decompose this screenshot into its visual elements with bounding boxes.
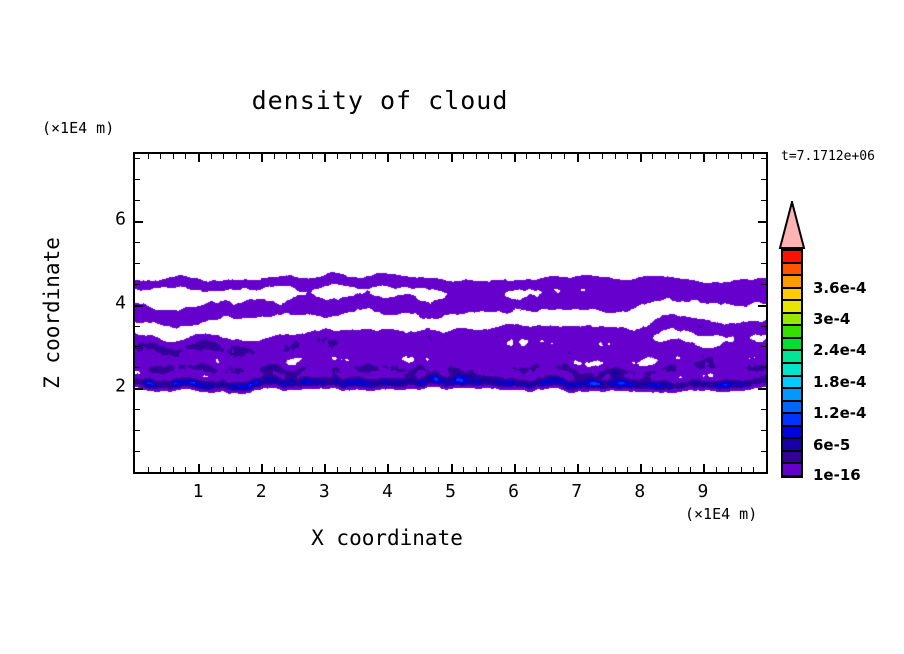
colorbar-band — [783, 438, 801, 451]
x-tick-label: 8 — [634, 481, 645, 502]
x-tick-minor — [337, 467, 338, 472]
x-tick-minor — [678, 154, 679, 159]
x-tick-major — [640, 464, 642, 472]
colorbar: 3.6e-43e-42.4e-41.8e-41.2e-46e-51e-16 — [777, 201, 903, 481]
y-tick-major — [758, 388, 766, 390]
x-tick-major — [324, 464, 326, 472]
timestamp-annotation: t=7.1712e+06 — [781, 149, 875, 164]
x-tick-minor — [249, 154, 250, 159]
colorbar-band — [783, 376, 801, 389]
colorbar-band-stack — [781, 248, 803, 478]
y-tick-minor — [135, 179, 140, 180]
y-tick-minor — [761, 284, 766, 285]
x-tick-minor — [425, 467, 426, 472]
x-tick-minor — [753, 467, 754, 472]
y-tick-label: 2 — [102, 376, 126, 397]
x-tick-major — [577, 464, 579, 472]
plot-area — [133, 152, 768, 474]
x-tick-minor — [526, 467, 527, 472]
x-tick-minor — [400, 467, 401, 472]
colorbar-band — [783, 313, 801, 326]
x-tick-major — [451, 464, 453, 472]
colorbar-band — [783, 463, 801, 476]
x-tick-major — [703, 464, 705, 472]
x-tick-minor — [185, 154, 186, 159]
x-tick-minor — [249, 467, 250, 472]
x-tick-minor — [463, 467, 464, 472]
x-tick-minor — [362, 467, 363, 472]
x-tick-minor — [274, 154, 275, 159]
x-tick-minor — [438, 467, 439, 472]
y-tick-minor — [135, 430, 140, 431]
y-tick-minor — [135, 242, 140, 243]
y-tick-minor — [761, 179, 766, 180]
x-tick-minor — [627, 467, 628, 472]
y-tick-label: 4 — [102, 292, 126, 313]
colorbar-band — [783, 325, 801, 338]
x-tick-minor — [615, 467, 616, 472]
colorbar-band — [783, 388, 801, 401]
x-tick-minor — [589, 154, 590, 159]
x-tick-label: 4 — [382, 481, 393, 502]
y-tick-minor — [761, 242, 766, 243]
x-tick-minor — [716, 467, 717, 472]
y-tick-minor — [761, 263, 766, 264]
x-tick-minor — [753, 154, 754, 159]
y-tick-minor — [761, 430, 766, 431]
x-tick-minor — [400, 154, 401, 159]
x-tick-minor — [211, 467, 212, 472]
x-tick-label: 6 — [508, 481, 519, 502]
y-tick-major — [758, 305, 766, 307]
page-title: density of cloud — [0, 86, 760, 115]
x-tick-major — [261, 154, 263, 162]
x-tick-minor — [236, 154, 237, 159]
colorbar-band — [783, 300, 801, 313]
x-tick-minor — [602, 154, 603, 159]
x-tick-minor — [728, 467, 729, 472]
colorbar-tick-label: 1.2e-4 — [813, 404, 866, 422]
x-tick-major — [514, 154, 516, 162]
y-tick-label-layer: 246 — [96, 152, 126, 474]
y-tick-major — [135, 388, 143, 390]
x-tick-minor — [223, 467, 224, 472]
x-tick-major — [451, 154, 453, 162]
x-tick-label: 9 — [697, 481, 708, 502]
x-tick-minor — [299, 467, 300, 472]
x-tick-minor — [627, 154, 628, 159]
x-axis-title-text: X coordinate — [311, 526, 593, 550]
x-tick-minor — [299, 154, 300, 159]
x-tick-minor — [728, 154, 729, 159]
colorbar-band — [783, 363, 801, 376]
y-axis-title: Z coordinate — [40, 237, 64, 389]
y-tick-minor — [761, 409, 766, 410]
x-tick-minor — [551, 467, 552, 472]
x-tick-major — [198, 154, 200, 162]
y-tick-minor — [135, 200, 140, 201]
x-tick-major — [387, 464, 389, 472]
x-tick-minor — [337, 154, 338, 159]
y-tick-minor — [135, 346, 140, 347]
colorbar-band — [783, 350, 801, 363]
y-tick-label: 6 — [102, 208, 126, 229]
x-tick-minor — [652, 467, 653, 472]
colorbar-tick-label: 3.6e-4 — [813, 279, 866, 297]
colorbar-band — [783, 288, 801, 301]
x-tick-minor — [173, 467, 174, 472]
y-tick-minor — [135, 284, 140, 285]
colorbar-tick-label: 1e-16 — [813, 466, 861, 484]
x-tick-major — [261, 464, 263, 472]
x-tick-minor — [501, 154, 502, 159]
x-tick-minor — [501, 467, 502, 472]
x-tick-minor — [160, 467, 161, 472]
y-tick-minor — [761, 367, 766, 368]
x-tick-minor — [476, 467, 477, 472]
x-tick-minor — [564, 154, 565, 159]
x-tick-minor — [652, 154, 653, 159]
x-tick-minor — [362, 154, 363, 159]
x-tick-minor — [564, 467, 565, 472]
x-tick-minor — [589, 467, 590, 472]
x-tick-minor — [413, 154, 414, 159]
x-tick-minor — [602, 467, 603, 472]
x-tick-minor — [716, 154, 717, 159]
x-tick-label: 7 — [571, 481, 582, 502]
x-tick-minor — [173, 154, 174, 159]
colorbar-band — [783, 451, 801, 464]
y-tick-minor — [761, 346, 766, 347]
x-tick-minor — [690, 467, 691, 472]
colorbar-band — [783, 250, 801, 263]
y-tick-minor — [135, 158, 140, 159]
x-tick-minor — [236, 467, 237, 472]
x-tick-major — [640, 154, 642, 162]
x-tick-minor — [615, 154, 616, 159]
x-tick-minor — [665, 467, 666, 472]
x-axis-title: X coordinate — [0, 526, 904, 550]
x-tick-minor — [148, 154, 149, 159]
x-tick-minor — [539, 154, 540, 159]
x-tick-major — [324, 154, 326, 162]
x-tick-minor — [678, 467, 679, 472]
x-tick-minor — [539, 467, 540, 472]
y-tick-minor — [135, 263, 140, 264]
x-tick-minor — [438, 154, 439, 159]
x-tick-minor — [526, 154, 527, 159]
colorbar-band — [783, 263, 801, 276]
x-tick-minor — [223, 154, 224, 159]
colorbar-tick-label: 6e-5 — [813, 436, 850, 454]
x-tick-minor — [488, 154, 489, 159]
x-tick-minor — [463, 154, 464, 159]
x-tick-minor — [413, 467, 414, 472]
x-tick-minor — [551, 154, 552, 159]
colorbar-overflow-arrow-icon — [778, 201, 806, 249]
x-tick-minor — [665, 154, 666, 159]
colorbar-band — [783, 401, 801, 414]
x-tick-minor — [425, 154, 426, 159]
x-tick-minor — [350, 154, 351, 159]
x-tick-minor — [211, 154, 212, 159]
colorbar-tick-label: 3e-4 — [813, 310, 850, 328]
colorbar-tick-label: 2.4e-4 — [813, 341, 866, 359]
x-tick-minor — [185, 467, 186, 472]
x-tick-minor — [476, 154, 477, 159]
y-tick-minor — [135, 326, 140, 327]
y-tick-minor — [135, 451, 140, 452]
x-tick-label: 1 — [193, 481, 204, 502]
y-tick-major — [135, 221, 143, 223]
x-tick-major — [703, 154, 705, 162]
x-tick-minor — [312, 467, 313, 472]
x-tick-minor — [690, 154, 691, 159]
contour-field — [135, 154, 766, 472]
x-tick-minor — [375, 467, 376, 472]
x-tick-minor — [286, 154, 287, 159]
y-tick-minor — [761, 451, 766, 452]
x-tick-minor — [375, 154, 376, 159]
y-tick-minor — [761, 200, 766, 201]
colorbar-band — [783, 275, 801, 288]
x-tick-minor — [160, 154, 161, 159]
x-tick-major — [514, 464, 516, 472]
x-tick-label: 5 — [445, 481, 456, 502]
x-tick-minor — [741, 467, 742, 472]
x-axis-unit-label: (×1E4 m) — [685, 505, 757, 523]
y-tick-minor — [761, 158, 766, 159]
colorbar-tick-label: 1.8e-4 — [813, 373, 866, 391]
colorbar-band — [783, 413, 801, 426]
y-tick-major — [135, 305, 143, 307]
x-tick-minor — [274, 467, 275, 472]
x-tick-minor — [286, 467, 287, 472]
x-tick-major — [577, 154, 579, 162]
x-tick-minor — [148, 467, 149, 472]
x-tick-minor — [488, 467, 489, 472]
x-tick-minor — [350, 467, 351, 472]
x-tick-label: 3 — [319, 481, 330, 502]
y-tick-minor — [135, 409, 140, 410]
y-axis-unit-label: (×1E4 m) — [42, 119, 114, 137]
x-tick-minor — [312, 154, 313, 159]
y-tick-minor — [135, 367, 140, 368]
y-tick-minor — [761, 326, 766, 327]
y-tick-major — [758, 221, 766, 223]
x-tick-minor — [741, 154, 742, 159]
x-tick-major — [198, 464, 200, 472]
colorbar-band — [783, 426, 801, 439]
x-tick-major — [387, 154, 389, 162]
colorbar-band — [783, 338, 801, 351]
x-tick-label: 2 — [256, 481, 267, 502]
